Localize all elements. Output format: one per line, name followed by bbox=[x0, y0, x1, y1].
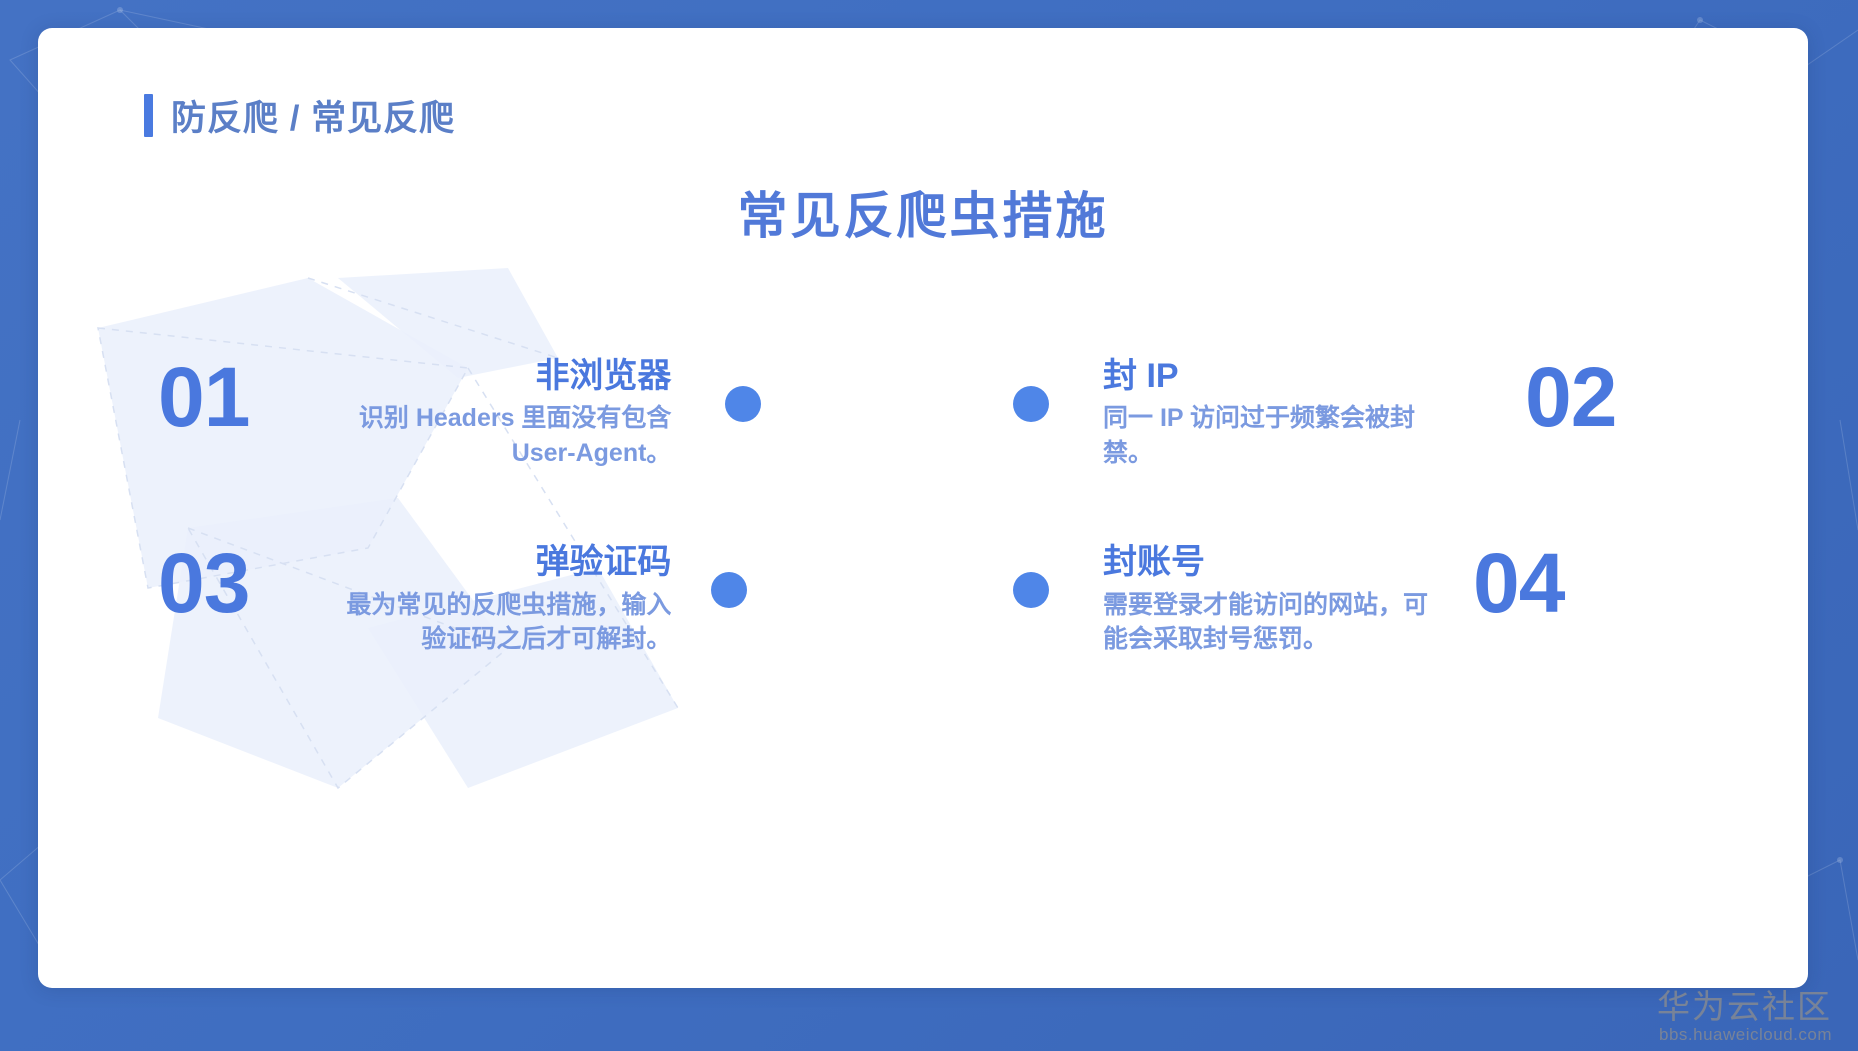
item-title: 非浏览器 bbox=[341, 358, 671, 395]
item-description: 识别 Headers 里面没有包含 User-Agent。 bbox=[341, 401, 671, 470]
item-03: 03 弹验证码 最为常见的反爬虫措施，输入验证码之后才可解封。 bbox=[38, 544, 953, 656]
item-description: 需要登录才能访问的网站，可能会采取封号惩罚。 bbox=[1103, 588, 1433, 657]
items-grid: 01 非浏览器 识别 Headers 里面没有包含 User-Agent。 封 … bbox=[38, 358, 1808, 731]
bullet-dot-icon bbox=[711, 572, 747, 608]
item-description: 同一 IP 访问过于频繁会被封禁。 bbox=[1103, 401, 1433, 470]
item-title: 封 IP bbox=[1103, 358, 1433, 395]
item-02: 封 IP 同一 IP 访问过于频繁会被封禁。 02 bbox=[953, 358, 1808, 470]
kicker-label: 防反爬 / 常见反爬 bbox=[171, 90, 455, 141]
item-title: 弹验证码 bbox=[341, 544, 671, 581]
bullet-dot-icon bbox=[1013, 386, 1049, 422]
items-row-bottom: 03 弹验证码 最为常见的反爬虫措施，输入验证码之后才可解封。 封账号 需要登录… bbox=[38, 544, 1808, 656]
item-04: 封账号 需要登录才能访问的网站，可能会采取封号惩罚。 04 bbox=[953, 544, 1808, 656]
item-number: 04 bbox=[1473, 544, 1564, 624]
bullet-dot-icon bbox=[1013, 572, 1049, 608]
item-number: 01 bbox=[158, 358, 249, 438]
kicker-accent-bar bbox=[144, 94, 153, 137]
item-title: 封账号 bbox=[1103, 544, 1433, 581]
item-number: 03 bbox=[158, 544, 249, 624]
page-title: 常见反爬虫措施 bbox=[38, 176, 1808, 248]
item-01: 01 非浏览器 识别 Headers 里面没有包含 User-Agent。 bbox=[38, 358, 953, 470]
content-card: 防反爬 / 常见反爬 常见反爬虫措施 01 非浏览器 识别 Headers 里面… bbox=[38, 28, 1808, 988]
items-row-top: 01 非浏览器 识别 Headers 里面没有包含 User-Agent。 封 … bbox=[38, 358, 1808, 470]
slide-root: 防反爬 / 常见反爬 常见反爬虫措施 01 非浏览器 识别 Headers 里面… bbox=[0, 0, 1858, 1051]
item-description: 最为常见的反爬虫措施，输入验证码之后才可解封。 bbox=[341, 588, 671, 657]
item-number: 02 bbox=[1525, 358, 1616, 438]
breadcrumb: 防反爬 / 常见反爬 bbox=[144, 90, 455, 141]
bullet-dot-icon bbox=[725, 386, 761, 422]
